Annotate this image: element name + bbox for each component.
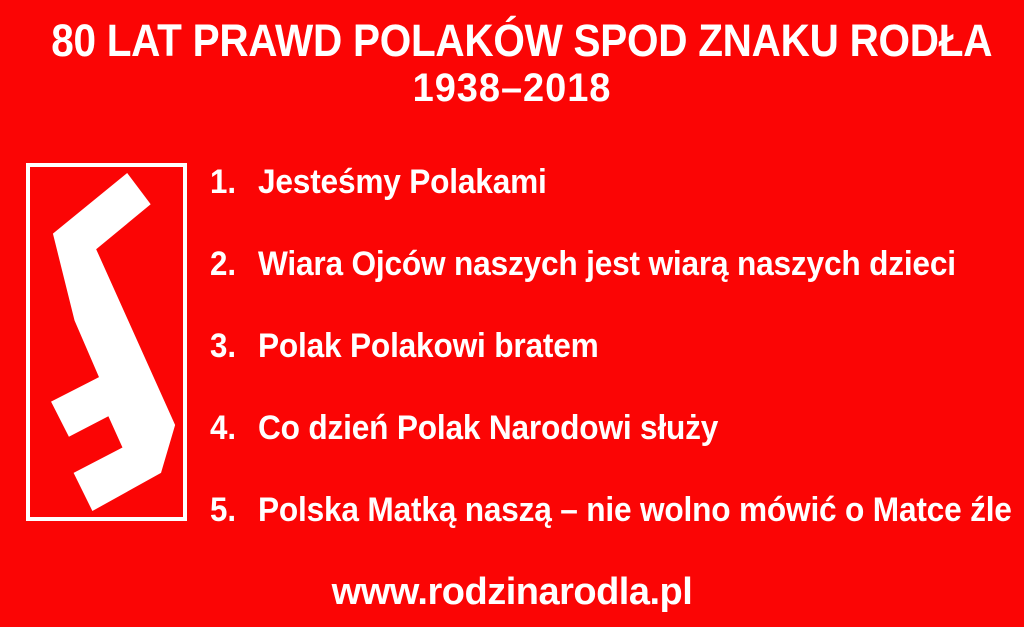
truths-list: 1. Jesteśmy Polakami 2. Wiara Ojców nasz… (210, 160, 1020, 570)
list-item-number: 1. (210, 160, 254, 204)
rodlo-icon (36, 173, 177, 511)
page-title: 80 LAT PRAWD POLAKÓW SPOD ZNAKU RODŁA (51, 18, 973, 64)
list-item: 5. Polska Matką naszą – nie wolno mówić … (210, 488, 1020, 570)
list-item-text: Polak Polakowi bratem (258, 324, 967, 368)
website-url[interactable]: www.rodzinarodla.pl (0, 570, 1024, 614)
list-item: 1. Jesteśmy Polakami (210, 160, 1020, 242)
rodlo-emblem-frame (26, 163, 187, 521)
list-item-text: Co dzień Polak Narodowi służy (258, 406, 967, 450)
poster-canvas: 80 LAT PRAWD POLAKÓW SPOD ZNAKU RODŁA 19… (0, 0, 1024, 627)
page-subtitle-years: 1938–2018 (26, 64, 999, 112)
list-item: 3. Polak Polakowi bratem (210, 324, 1020, 406)
list-item-text: Wiara Ojców naszych jest wiarą naszych d… (258, 242, 967, 286)
list-item-text: Polska Matką naszą – nie wolno mówić o M… (258, 488, 1012, 532)
list-item: 4. Co dzień Polak Narodowi służy (210, 406, 1020, 488)
list-item-number: 3. (210, 324, 254, 368)
poster-title: 80 LAT PRAWD POLAKÓW SPOD ZNAKU RODŁA 19… (0, 18, 1024, 112)
list-item-number: 2. (210, 242, 254, 286)
list-item-text: Jesteśmy Polakami (258, 160, 967, 204)
list-item-number: 5. (210, 488, 254, 532)
list-item-number: 4. (210, 406, 254, 450)
list-item: 2. Wiara Ojców naszych jest wiarą naszyc… (210, 242, 1020, 324)
